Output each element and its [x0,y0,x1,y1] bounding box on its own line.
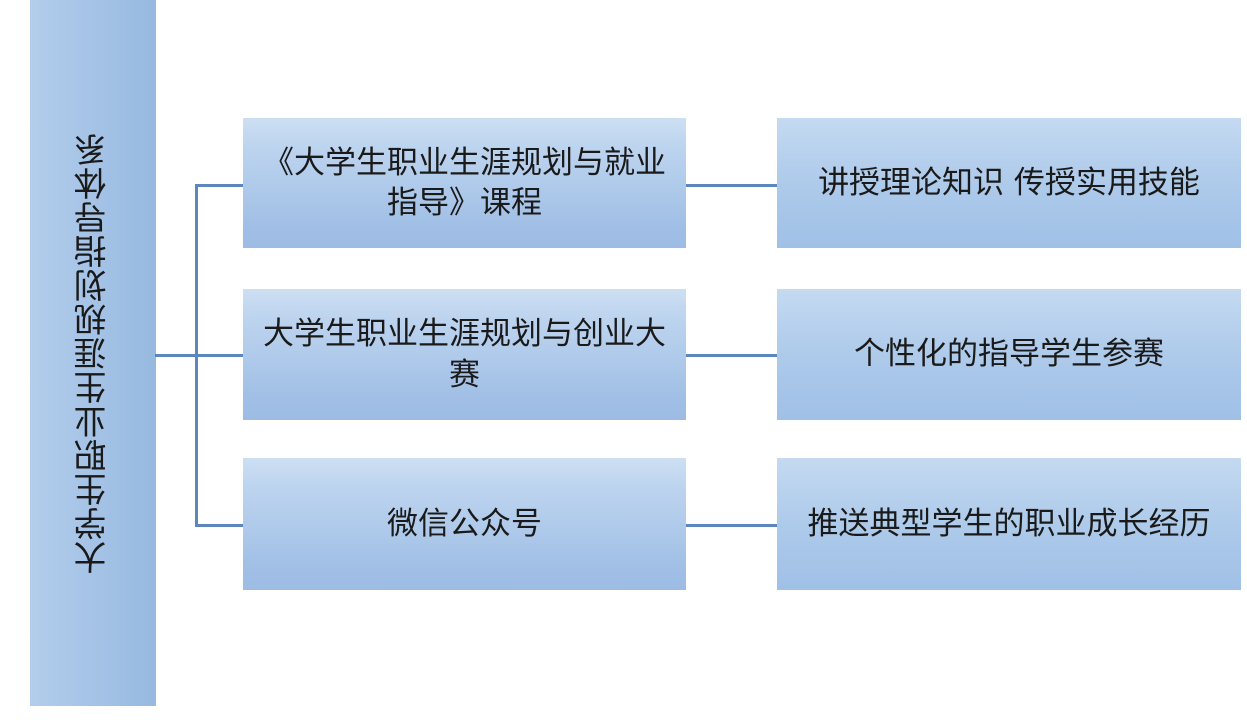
outcome-node-2-label: 个性化的指导学生参赛 [783,334,1235,374]
activity-node-1-label: 《大学生职业生涯规划与就业指导》课程 [249,143,680,224]
activity-node-3-label: 微信公众号 [249,504,680,544]
outcome-node-1-label: 讲授理论知识 传授实用技能 [783,163,1235,203]
trunk-stub-connector [155,354,198,357]
link-connector-1 [686,184,778,187]
activity-node-3[interactable]: 微信公众号 [243,458,686,590]
activity-node-2[interactable]: 大学生职业生涯规划与创业大赛 [243,289,686,420]
outcome-node-1[interactable]: 讲授理论知识 传授实用技能 [777,118,1241,248]
link-connector-2 [686,354,778,357]
outcome-node-3[interactable]: 推送典型学生的职业成长经历 [777,458,1241,590]
org-chart-diagram: 大学生职业生涯规划指导体系 《大学生职业生涯规划与就业指导》课程 讲授理论知识 … [0,0,1247,720]
outcome-node-2[interactable]: 个性化的指导学生参赛 [777,289,1241,420]
root-node-banner[interactable]: 大学生职业生涯规划指导体系 [30,0,156,706]
activity-node-2-label: 大学生职业生涯规划与创业大赛 [249,314,680,395]
link-connector-3 [686,524,778,527]
branch-connector-3 [195,524,245,527]
branch-connector-2 [195,354,245,357]
activity-node-1[interactable]: 《大学生职业生涯规划与就业指导》课程 [243,118,686,248]
branch-connector-1 [195,184,245,187]
outcome-node-3-label: 推送典型学生的职业成长经历 [783,504,1235,544]
root-node-label: 大学生职业生涯规划指导体系 [76,132,111,574]
